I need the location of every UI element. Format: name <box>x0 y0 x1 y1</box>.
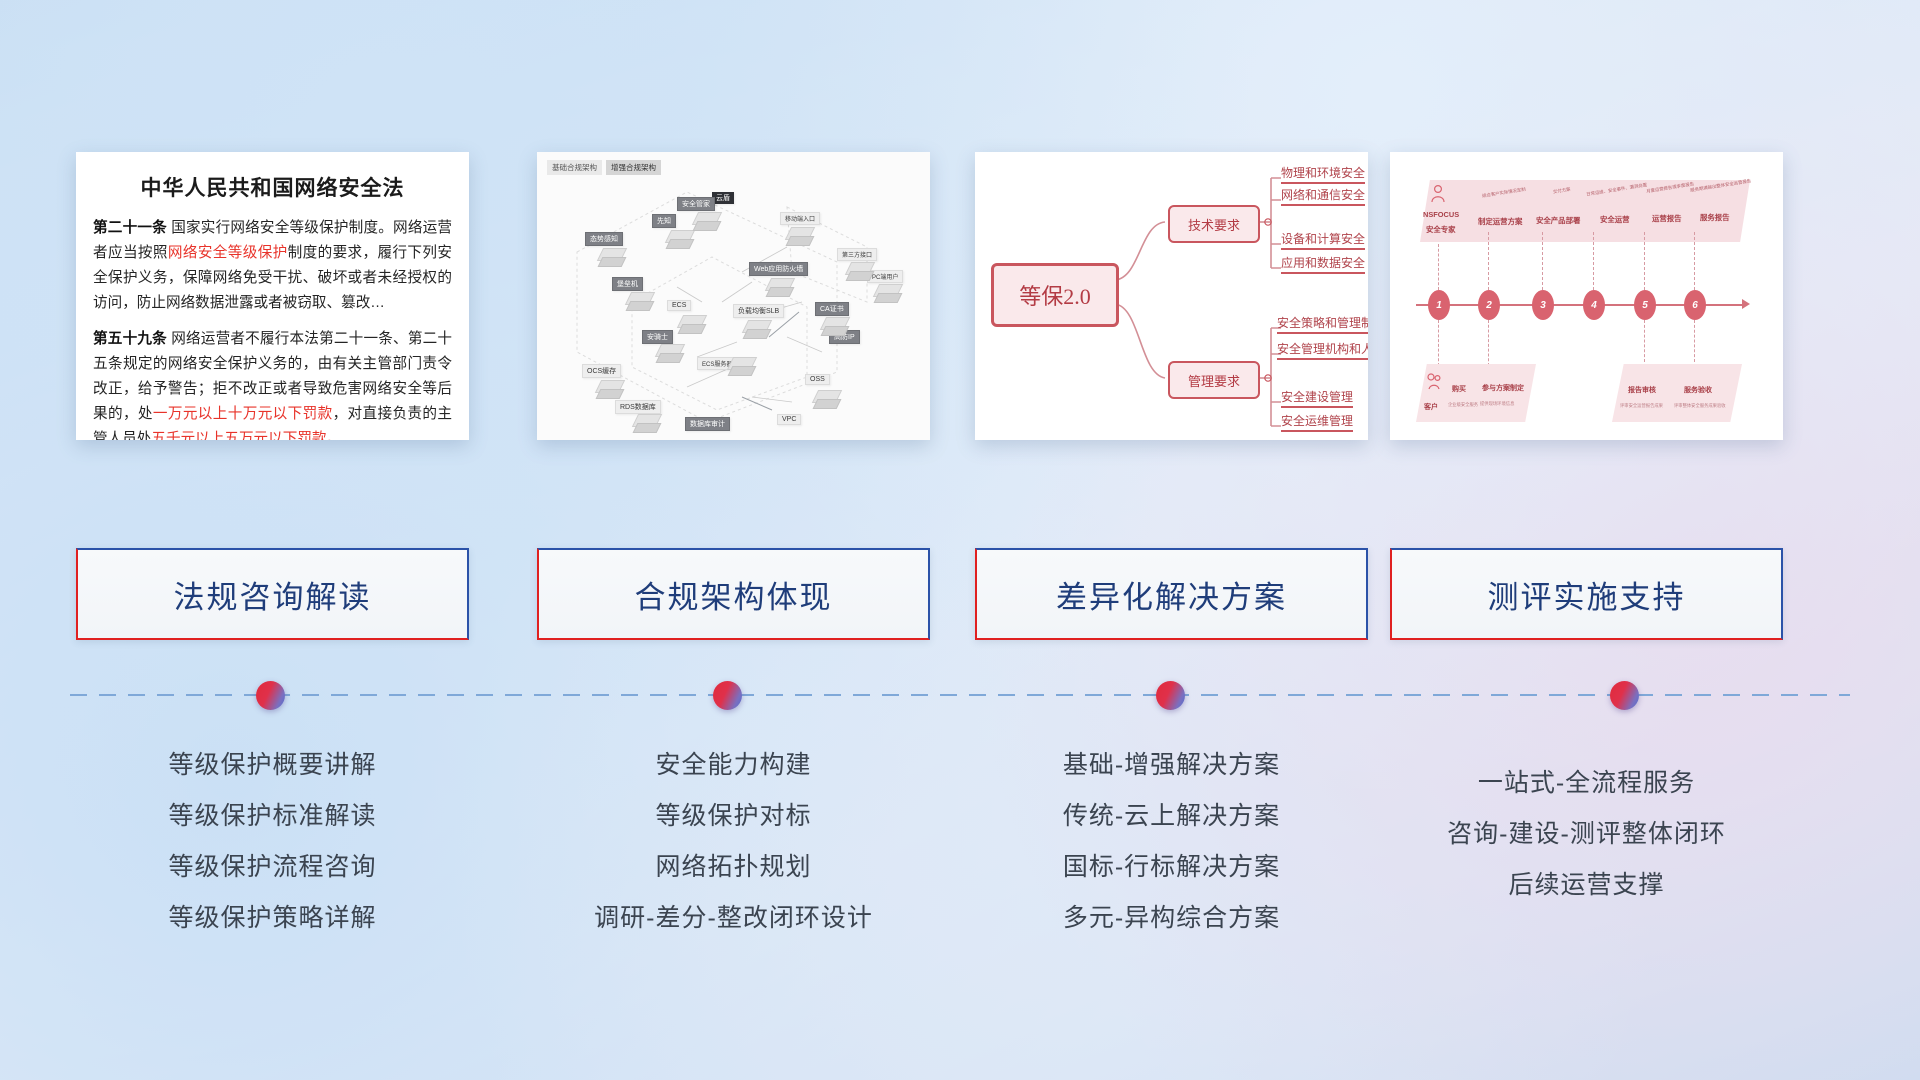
mindmap-leaf: 安全建设管理 <box>1281 388 1353 408</box>
mindmap-leaf: 物理和环境安全 <box>1281 164 1365 184</box>
device-icon <box>845 262 871 280</box>
connector-dash <box>1488 320 1489 366</box>
category-row: 法规咨询解读 合规架构体现 差异化解决方案 测评实施支持 <box>0 548 1920 640</box>
poster-root: 中华人民共和国网络安全法 第二十一条 国家实行网络安全等级保护制度。网络运营者应… <box>0 0 1920 1080</box>
mindmap-leaf: 安全策略和管理制度 <box>1277 314 1368 334</box>
mindmap: 等保2.0 技术要求 管理要求 物理和环境安全 网络和通信安全 设备和计算安全 … <box>975 152 1368 440</box>
step-marker: 1 <box>1428 290 1450 320</box>
list-item: 网络拓扑规划 <box>537 842 930 893</box>
node-third-party-api: 第三方接口 <box>837 248 877 261</box>
server-cube-icon <box>632 414 658 432</box>
node-ocs-cache: OCS缓存 <box>582 364 621 378</box>
mindmap-leaf: 安全管理机构和人员 <box>1277 340 1368 360</box>
node-waf: Web应用防火墙 <box>749 262 808 276</box>
node-rds-database: RDS数据库 <box>615 400 661 414</box>
card-dengbao-mindmap: 等保2.0 技术要求 管理要求 物理和环境安全 网络和通信安全 设备和计算安全 … <box>975 152 1368 440</box>
tile-subtitle: 企业级安全服务 <box>1448 402 1478 408</box>
service-flow-diagram: NSFOCUS 安全专家 结合客户实际情况定制 交付方案 日常运维、安全事件、漏… <box>1390 152 1783 440</box>
image-card-row: 中华人民共和国网络安全法 第二十一条 国家实行网络安全等级保护制度。网络运营者应… <box>0 152 1920 442</box>
list-item: 基础-增强解决方案 <box>975 740 1368 791</box>
server-cube-icon <box>597 248 623 266</box>
timeline-dot-4 <box>1610 681 1639 710</box>
category-label: 测评实施支持 <box>1488 572 1686 617</box>
article-number-59: 第五十九条 <box>93 331 167 347</box>
category-box-assessment-support[interactable]: 测评实施支持 <box>1390 548 1783 640</box>
connector-dash <box>1644 232 1645 290</box>
node-security-housekeeper: 安全管家 <box>677 197 715 211</box>
node-vpc: VPC <box>777 414 801 425</box>
list-item: 等级保护策略详解 <box>76 893 469 944</box>
tile-label: 报告审核 <box>1628 385 1656 395</box>
category-box-differentiated-solution[interactable]: 差异化解决方案 <box>975 548 1368 640</box>
step-marker: 6 <box>1684 290 1706 320</box>
connector-dash <box>1644 320 1645 362</box>
server-cube-icon <box>812 390 838 408</box>
tile-subtitle: 评审安全运营报告成果 <box>1620 403 1663 409</box>
category-label: 合规架构体现 <box>635 572 833 617</box>
tile-subtitle: 提供现场环境信息 <box>1480 401 1514 407</box>
connector-dash <box>1593 232 1594 290</box>
server-cube-icon <box>727 357 753 375</box>
mindmap-root-node: 等保2.0 <box>991 263 1119 327</box>
list-item: 国标-行标解决方案 <box>975 842 1368 893</box>
timeline-dot-1 <box>256 681 285 710</box>
connector-dash <box>1488 232 1489 290</box>
server-cube-icon <box>820 317 846 335</box>
card-network-security-law: 中华人民共和国网络安全法 第二十一条 国家实行网络安全等级保护制度。网络运营者应… <box>76 152 469 440</box>
band-label: 服务报告 <box>1700 212 1730 223</box>
node-ecs: ECS <box>667 300 691 311</box>
node-oss: OSS <box>805 374 830 385</box>
law-document: 中华人民共和国网络安全法 第二十一条 国家实行网络安全等级保护制度。网络运营者应… <box>76 152 469 440</box>
timeline-arrow-icon <box>1742 299 1750 309</box>
article-21-highlight: 网络安全等级保护 <box>168 245 288 261</box>
detail-column-3: 基础-增强解决方案 传统-云上解决方案 国标-行标解决方案 多元-异构综合方案 <box>975 740 1368 944</box>
mindmap-branch-management: 管理要求 <box>1168 361 1260 399</box>
band-label: 安全产品部署 <box>1536 215 1580 226</box>
list-item: 一站式-全流程服务 <box>1390 758 1783 809</box>
article-number-21: 第二十一条 <box>93 220 167 236</box>
law-title: 中华人民共和国网络安全法 <box>93 172 452 202</box>
node-ca-certificate: CA证书 <box>815 302 849 316</box>
mindmap-leaf: 应用和数据安全 <box>1281 254 1365 274</box>
list-item: 后续运营支撑 <box>1390 860 1783 911</box>
list-item: 调研-差分-整改闭环设计 <box>537 893 930 944</box>
node-mobile-entry: 移动端入口 <box>780 212 820 225</box>
server-cube-icon <box>765 278 791 296</box>
detail-list-row: 等级保护概要讲解 等级保护标准解读 等级保护流程咨询 等级保护策略详解 安全能力… <box>0 740 1920 980</box>
mindmap-branch-technical: 技术要求 <box>1168 205 1260 243</box>
list-item: 咨询-建设-测评整体闭环 <box>1390 809 1783 860</box>
band-label: 运营报告 <box>1652 213 1682 224</box>
connector-dash <box>1694 320 1695 362</box>
mindmap-leaf: 网络和通信安全 <box>1281 186 1365 206</box>
expert-avatar-icon <box>1430 184 1446 209</box>
list-item: 多元-异构综合方案 <box>975 893 1368 944</box>
band-label: 制定运营方案 <box>1478 216 1522 227</box>
device-icon <box>785 227 811 245</box>
connector-dash <box>1438 320 1439 366</box>
node-bastion-host: 堡垒机 <box>612 277 643 291</box>
server-cube-icon <box>665 230 691 248</box>
category-label: 差异化解决方案 <box>1056 572 1287 617</box>
tile-subtitle: 评审整体安全服务成果验收 <box>1674 403 1726 409</box>
tile-label: 服务验收 <box>1684 385 1712 395</box>
detail-column-1: 等级保护概要讲解 等级保护标准解读 等级保护流程咨询 等级保护策略详解 <box>76 740 469 944</box>
card-service-flow: NSFOCUS 安全专家 结合客户实际情况定制 交付方案 日常运维、安全事件、漏… <box>1390 152 1783 440</box>
connector-dash <box>1542 232 1543 290</box>
tile-label: 购买 <box>1452 384 1466 394</box>
node-anqishi: 安骑士 <box>642 330 673 344</box>
step-marker: 2 <box>1478 290 1500 320</box>
server-cube-icon <box>692 212 718 230</box>
server-cube-icon <box>677 315 703 333</box>
detail-column-2: 安全能力构建 等级保护对标 网络拓扑规划 调研-差分-整改闭环设计 <box>537 740 930 944</box>
list-item: 等级保护概要讲解 <box>76 740 469 791</box>
node-situational-awareness: 态势感知 <box>585 232 623 246</box>
server-cube-icon <box>742 320 768 338</box>
law-article-21: 第二十一条 国家实行网络安全等级保护制度。网络运营者应当按照网络安全等级保护制度… <box>93 216 452 316</box>
list-item: 等级保护对标 <box>537 791 930 842</box>
timeline-dashed-line <box>70 694 1850 696</box>
connector-dash <box>1694 232 1695 290</box>
brand-subtitle: 安全专家 <box>1426 224 1456 235</box>
detail-column-4: 一站式-全流程服务 咨询-建设-测评整体闭环 后续运营支撑 <box>1390 758 1783 911</box>
server-cube-icon <box>655 344 681 362</box>
node-cloud-shield: 云盾 <box>712 192 734 204</box>
article-59-highlight-2: 五千元以上五万元以下罚款。 <box>151 431 341 440</box>
brand-name: NSFOCUS <box>1423 210 1459 219</box>
law-article-59: 第五十九条 网络运营者不履行本法第二十一条、第二十五条规定的网络安全保护义务的，… <box>93 327 452 440</box>
tile-label: 参与方案制定 <box>1482 383 1524 393</box>
customer-avatar-icon <box>1426 372 1442 397</box>
server-cube-icon <box>595 380 621 398</box>
timeline-dot-3 <box>1156 681 1185 710</box>
list-item: 传统-云上解决方案 <box>975 791 1368 842</box>
device-icon <box>873 284 899 302</box>
node-xianzhi: 先知 <box>652 214 676 228</box>
list-item: 安全能力构建 <box>537 740 930 791</box>
mindmap-leaf: 设备和计算安全 <box>1281 230 1365 250</box>
server-cube-icon <box>625 292 651 310</box>
step-marker: 5 <box>1634 290 1656 320</box>
category-box-compliance-architecture[interactable]: 合规架构体现 <box>537 548 930 640</box>
architecture-diagram: 基础合规架构 增强合规架构 <box>537 152 930 440</box>
step-marker: 4 <box>1583 290 1605 320</box>
customer-label: 客户 <box>1424 402 1438 412</box>
list-item: 等级保护标准解读 <box>76 791 469 842</box>
mindmap-leaf: 安全运维管理 <box>1281 412 1353 432</box>
step-marker: 3 <box>1532 290 1554 320</box>
connector-dash <box>1438 244 1439 290</box>
card-compliance-architecture: 基础合规架构 增强合规架构 <box>537 152 930 440</box>
band-label: 安全运营 <box>1600 214 1630 225</box>
node-database-audit: 数据库审计 <box>685 417 730 431</box>
category-label: 法规咨询解读 <box>174 572 372 617</box>
article-59-highlight-1: 一万元以上十万元以下罚款 <box>153 406 333 422</box>
timeline-dot-2 <box>713 681 742 710</box>
category-box-regulation-consulting[interactable]: 法规咨询解读 <box>76 548 469 640</box>
list-item: 等级保护流程咨询 <box>76 842 469 893</box>
node-slb: 负载均衡SLB <box>733 304 784 318</box>
